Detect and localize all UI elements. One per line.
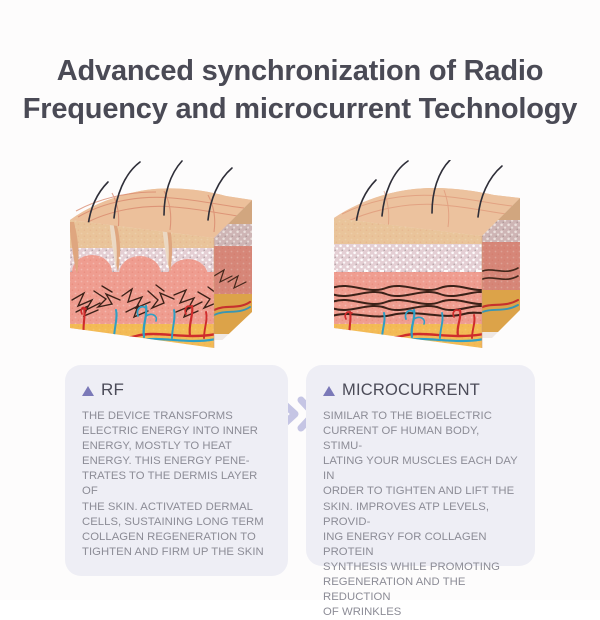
card-microcurrent: MICROCURRENT SIMILAR TO THE BIOELECTRIC …: [306, 365, 535, 566]
page-root: Advanced synchronization of Radio Freque…: [0, 0, 600, 600]
page-title-line-1: Advanced synchronization of Radio: [0, 52, 600, 90]
card-microcurrent-title: MICROCURRENT: [342, 381, 480, 399]
page-title: Advanced synchronization of Radio Freque…: [0, 52, 600, 128]
skin-cross-section-after: [332, 160, 522, 352]
card-rf-header: RF: [82, 381, 271, 399]
page-title-line-2: Frequency and microcurrent Technology: [0, 90, 600, 128]
diagram-area: [0, 160, 600, 355]
card-microcurrent-body: SIMILAR TO THE BIOELECTRIC CURRENT OF HU…: [323, 409, 518, 620]
card-rf: RF THE DEVICE TRANSFORMS ELECTRIC ENERGY…: [65, 365, 288, 576]
triangle-up-icon: [323, 386, 335, 396]
card-rf-body: THE DEVICE TRANSFORMS ELECTRIC ENERGY IN…: [82, 409, 271, 560]
skin-cross-section-before: [68, 160, 254, 352]
triangle-up-icon: [82, 386, 94, 396]
info-cards: RF THE DEVICE TRANSFORMS ELECTRIC ENERGY…: [0, 365, 600, 585]
card-rf-title: RF: [101, 381, 124, 399]
card-microcurrent-header: MICROCURRENT: [323, 381, 518, 399]
